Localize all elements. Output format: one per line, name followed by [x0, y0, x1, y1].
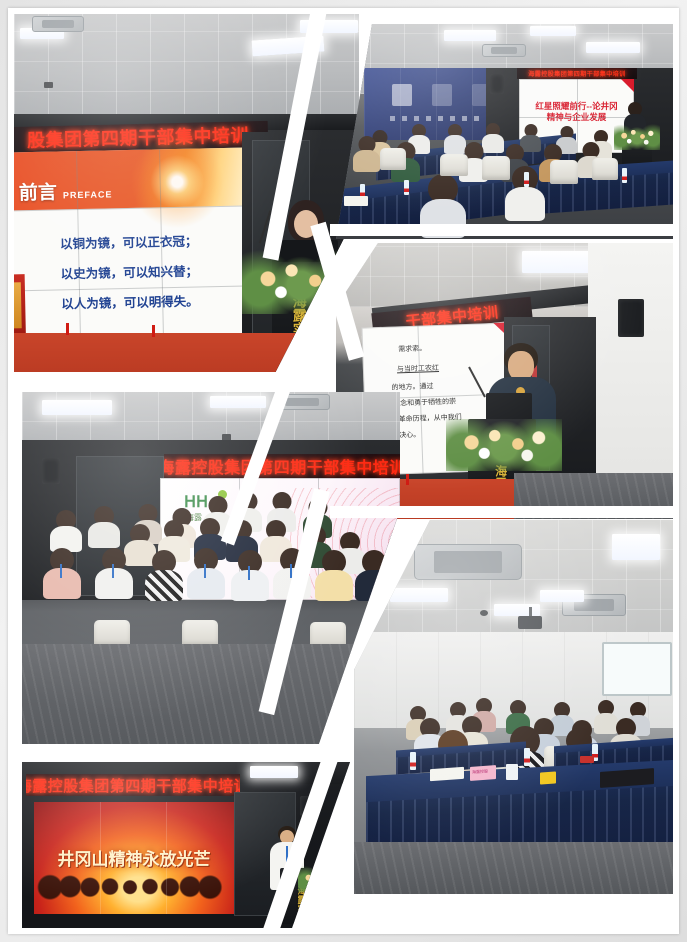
led-banner-text-jinggang: 海露控股集团第四期干部集中培训 [26, 775, 240, 796]
slide-line-3: 以人为镜，可以明得失。 [61, 291, 199, 313]
separator-horizontal-top [330, 224, 673, 236]
separator-horizontal-mid-right [330, 506, 673, 518]
slide-line-male-3: 的地方。通过 [391, 381, 433, 392]
notepad [430, 767, 464, 781]
led-banner-jinggang: 海露控股集团第四期干部集中培训 [26, 774, 240, 796]
collage-stage: 股集团第四期干部集中培训 前言 PREFACE 以铜为镜，可以正衣冠； 以史为镜… [14, 14, 673, 928]
slide-line-2: 以史为镜，可以知兴替； [60, 261, 198, 283]
slide-line-male-2: 与当时工农红 [397, 363, 439, 374]
projector [518, 616, 542, 629]
slide-line-male-1: 需求索。 [398, 343, 426, 354]
separator-horizontal-left [14, 372, 324, 386]
slide-screen-jinggang: 井冈山精神永放光芒 [34, 802, 234, 914]
separator-horizontal-bottom-left [14, 744, 334, 758]
panel-group-photo[interactable]: 海露控股集团第四期干部集中培训 ᕼᕼ 海露 [22, 392, 400, 758]
slide-line-1: 以铜为镜，可以正衣冠； [60, 231, 198, 253]
slide-artwork-text: 井冈山精神永放光芒 [34, 845, 234, 870]
panel-classroom-wide[interactable]: 海露控股 [354, 520, 673, 894]
led-banner-text-group: 海露控股集团第四期干部集中培训 [164, 454, 400, 478]
slide-screen-preface: 前言 PREFACE 以铜为镜，可以正衣冠； 以史为镜，可以知兴替； 以人为镜，… [14, 147, 252, 340]
whiteboard [602, 642, 672, 696]
photo-collage: 股集团第四期干部集中培训 前言 PREFACE 以铜为镜，可以正衣冠； 以史为镜… [0, 0, 687, 942]
ceiling-ac-vent [414, 544, 522, 580]
slide-heading-cn: 前言 [19, 177, 58, 205]
slide-heading-en: PREFACE [63, 189, 113, 200]
flower-arrangement-male [446, 419, 562, 471]
table-name-card-text: 海露控股 [472, 768, 488, 775]
led-banner-group: 海露控股集团第四期干部集中培训 [164, 454, 400, 478]
led-banner-text-redstar: 海露控股集团第四期干部集中培训 [528, 69, 626, 78]
panel-audience-red-star[interactable]: 海露控股集团第四期干部集中培训 红星照耀前行--论井冈 精神与企业发展 [336, 24, 673, 239]
